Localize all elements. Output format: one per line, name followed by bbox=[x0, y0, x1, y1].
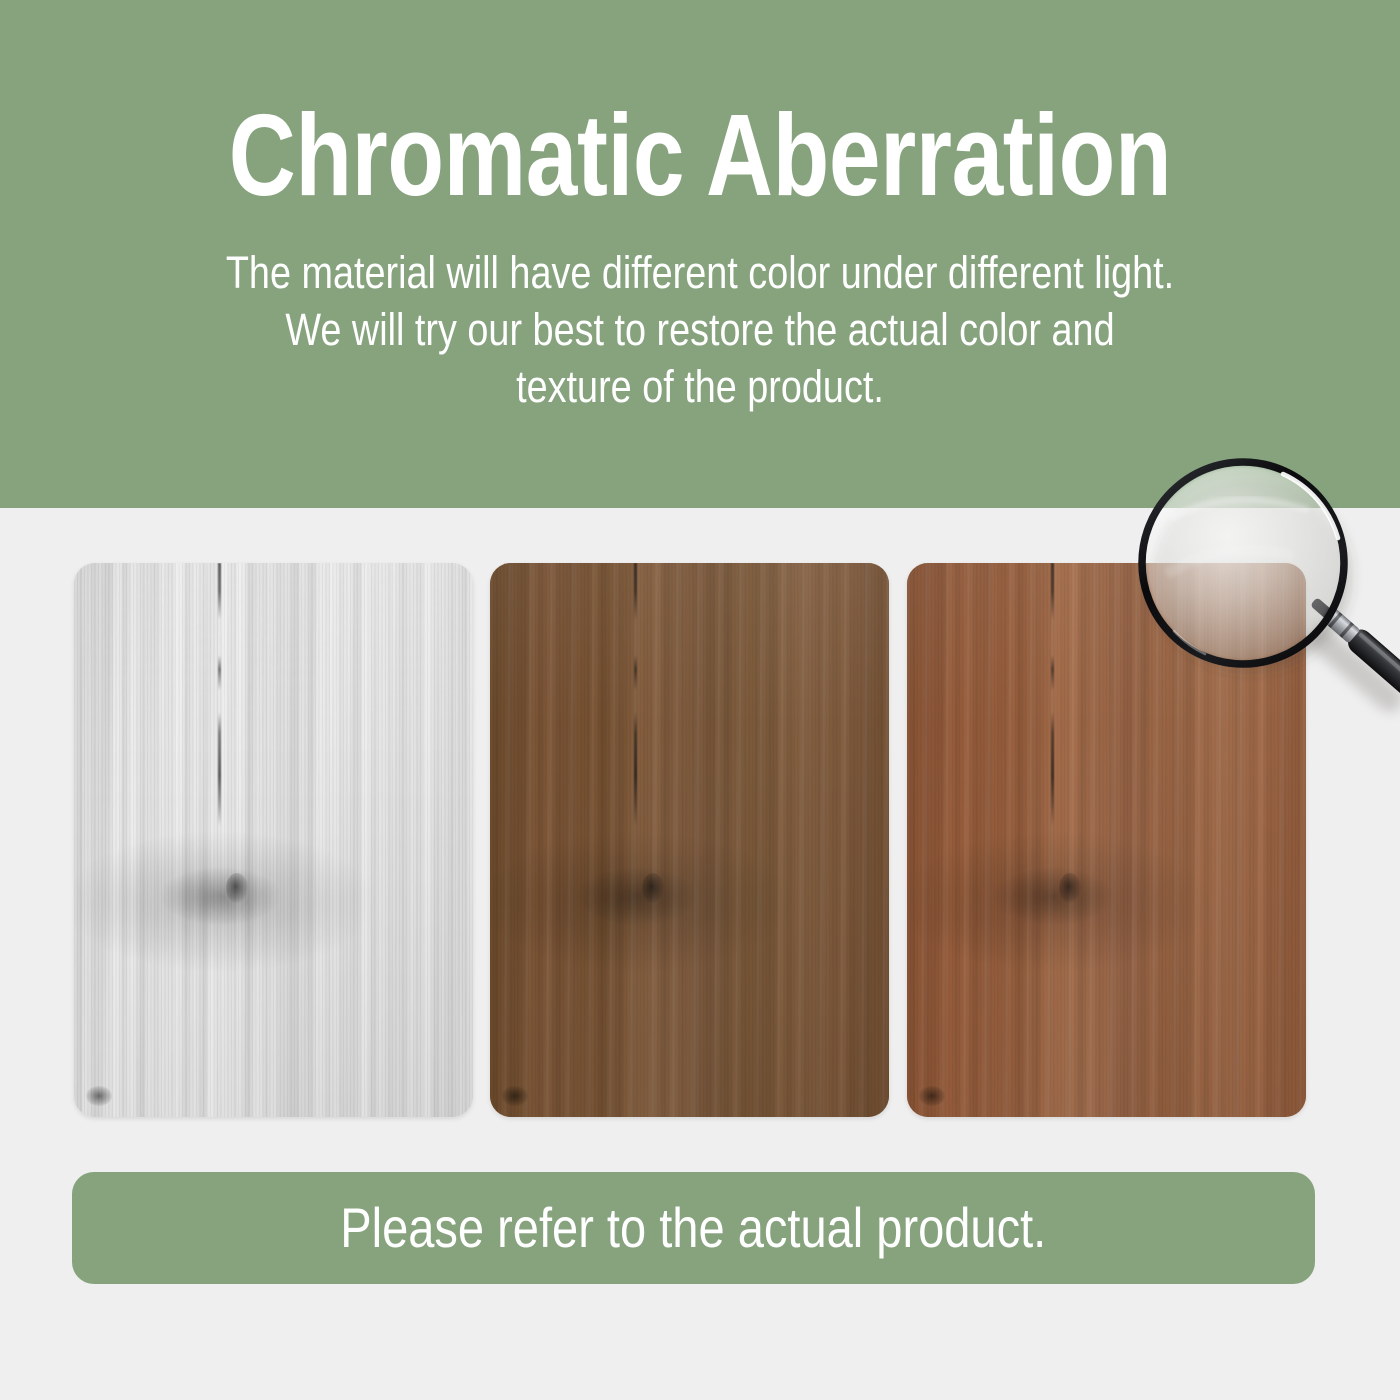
chromatic-aberration-infographic: Chromatic Aberration The material will h… bbox=[0, 0, 1400, 1400]
footer-notice-text: Please refer to the actual product. bbox=[340, 1200, 1046, 1256]
dark-walnut-shading bbox=[490, 563, 889, 1117]
subtitle-line-2: We will try our best to restore the actu… bbox=[112, 301, 1288, 358]
light-oak-swatch bbox=[74, 563, 473, 1117]
subtitle-line-3: texture of the product. bbox=[112, 358, 1288, 415]
header-subtitle: The material will have different color u… bbox=[0, 244, 1400, 415]
light-oak-shading bbox=[74, 563, 473, 1117]
red-oak-shading bbox=[907, 563, 1306, 1117]
red-oak-swatch bbox=[907, 563, 1306, 1117]
wood-swatch-row bbox=[74, 563, 1306, 1117]
dark-walnut-swatch bbox=[490, 563, 889, 1117]
subtitle-line-1: The material will have different color u… bbox=[112, 244, 1288, 301]
page-title: Chromatic Aberration bbox=[140, 96, 1260, 214]
footer-notice-bar: Please refer to the actual product. bbox=[72, 1172, 1315, 1284]
